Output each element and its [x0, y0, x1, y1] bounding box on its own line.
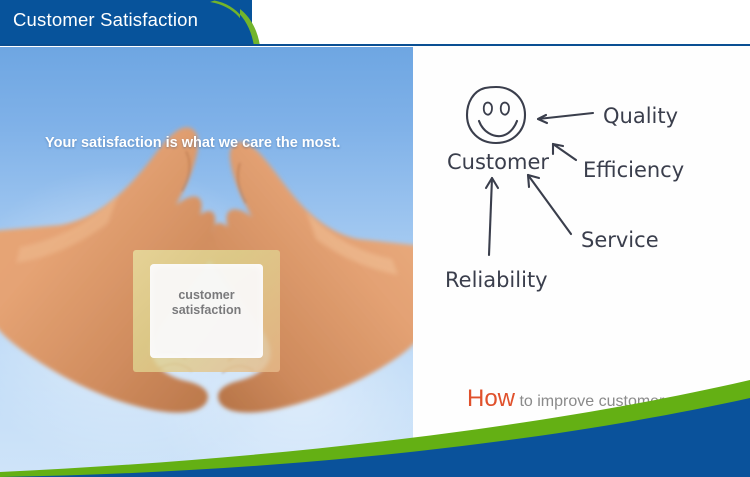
question-line: How to improve customer satisfaction ? — [467, 385, 750, 413]
arrow-up-left-service-icon — [528, 175, 571, 234]
card-text-line2: satisfaction — [150, 303, 263, 318]
arrow-up-left-efficiency-icon — [553, 144, 576, 160]
header-divider — [0, 44, 750, 46]
smiley-face-icon — [467, 87, 525, 143]
photo-panel: customer satisfaction Your satisfaction … — [0, 47, 413, 477]
question-rest: to improve customer satisfaction ? — [515, 393, 750, 410]
header-bar: Customer Satisfaction — [0, 0, 750, 46]
question-highlight: How — [467, 385, 515, 412]
diagram-label-customer: Customer — [447, 150, 549, 174]
arrow-left-quality-icon — [538, 113, 593, 123]
card-text: customer satisfaction — [150, 288, 263, 318]
diagram-label-efficiency: Efficiency — [583, 158, 684, 182]
page-title: Customer Satisfaction — [13, 9, 198, 31]
diagram-label-quality: Quality — [603, 104, 678, 128]
satisfaction-card: customer satisfaction — [133, 250, 280, 372]
arrow-up-reliability-icon — [486, 178, 498, 255]
card-paper: customer satisfaction — [150, 264, 263, 358]
slide-canvas: Customer Satisfaction — [0, 0, 750, 477]
tagline-text: Your satisfaction is what we care the mo… — [45, 135, 340, 151]
diagram-label-service: Service — [581, 228, 659, 252]
whiteboard-panel: Customer Quality Efficiency Service Reli… — [413, 47, 750, 477]
handwritten-diagram: Customer Quality Efficiency Service Reli… — [413, 47, 750, 347]
diagram-label-reliability: Reliability — [445, 268, 548, 292]
card-text-line1: customer — [150, 288, 263, 303]
